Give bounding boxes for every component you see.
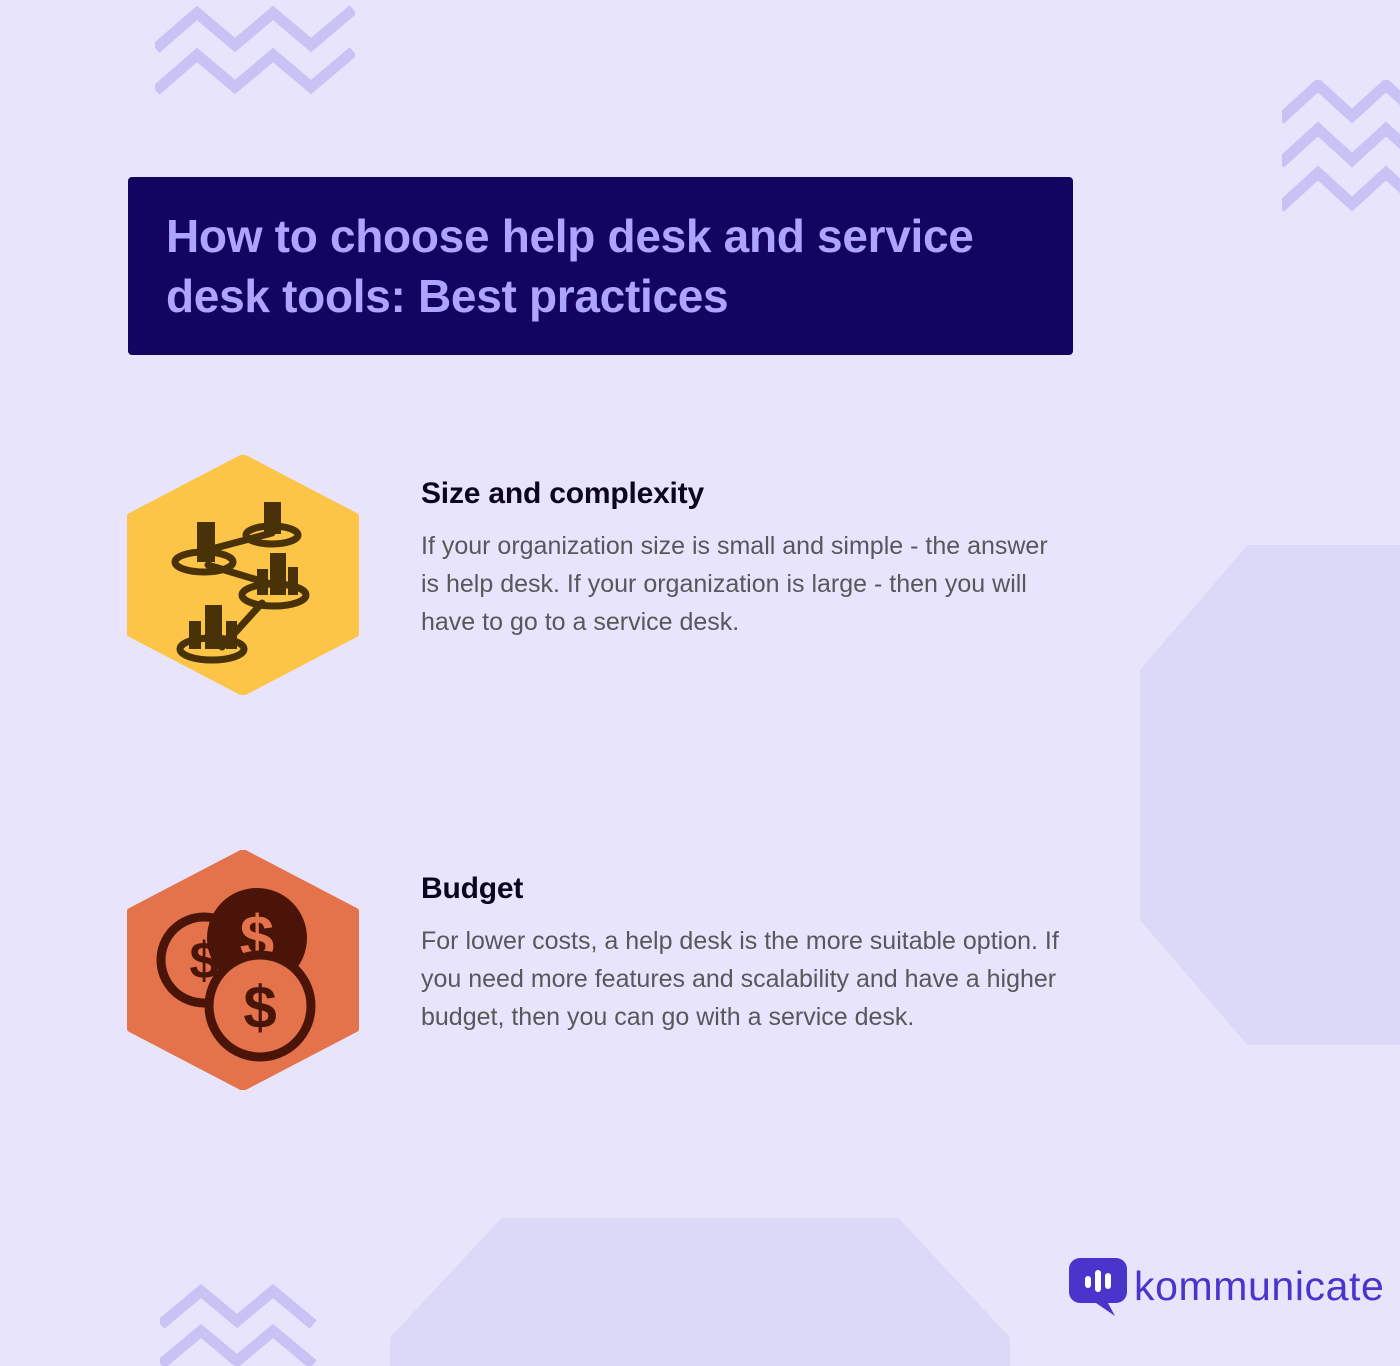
content-block-budget: $ $ $ Budget For lower costs, a help des… xyxy=(126,850,1061,1090)
org-network-icon xyxy=(126,455,360,695)
svg-text:$: $ xyxy=(243,974,276,1041)
block-body: For lower costs, a help desk is the more… xyxy=(421,922,1061,1036)
decorative-hexagon-bottom xyxy=(390,1218,1010,1366)
content-block-size-and-complexity: Size and complexity If your organization… xyxy=(126,455,1061,695)
zigzag-pattern-bottom-left xyxy=(160,1283,340,1366)
zigzag-pattern-top-right xyxy=(1282,80,1400,215)
speech-bubble-icon xyxy=(1068,1255,1128,1317)
block-text-container: Size and complexity If your organization… xyxy=(421,455,1061,641)
decorative-hexagon-right xyxy=(1140,545,1400,1045)
block-heading: Size and complexity xyxy=(421,477,1061,511)
block-heading: Budget xyxy=(421,872,1061,906)
dollar-coins-icon: $ $ $ xyxy=(126,850,360,1090)
block-body: If your organization size is small and s… xyxy=(421,527,1061,641)
zigzag-pattern-top-left xyxy=(155,5,355,100)
block-text-container: Budget For lower costs, a help desk is t… xyxy=(421,850,1061,1036)
page-title: How to choose help desk and service desk… xyxy=(166,207,1035,327)
kommunicate-logo[interactable]: kommunicate xyxy=(1068,1255,1384,1317)
title-banner: How to choose help desk and service desk… xyxy=(128,177,1073,355)
logo-wordmark: kommunicate xyxy=(1134,1266,1384,1307)
